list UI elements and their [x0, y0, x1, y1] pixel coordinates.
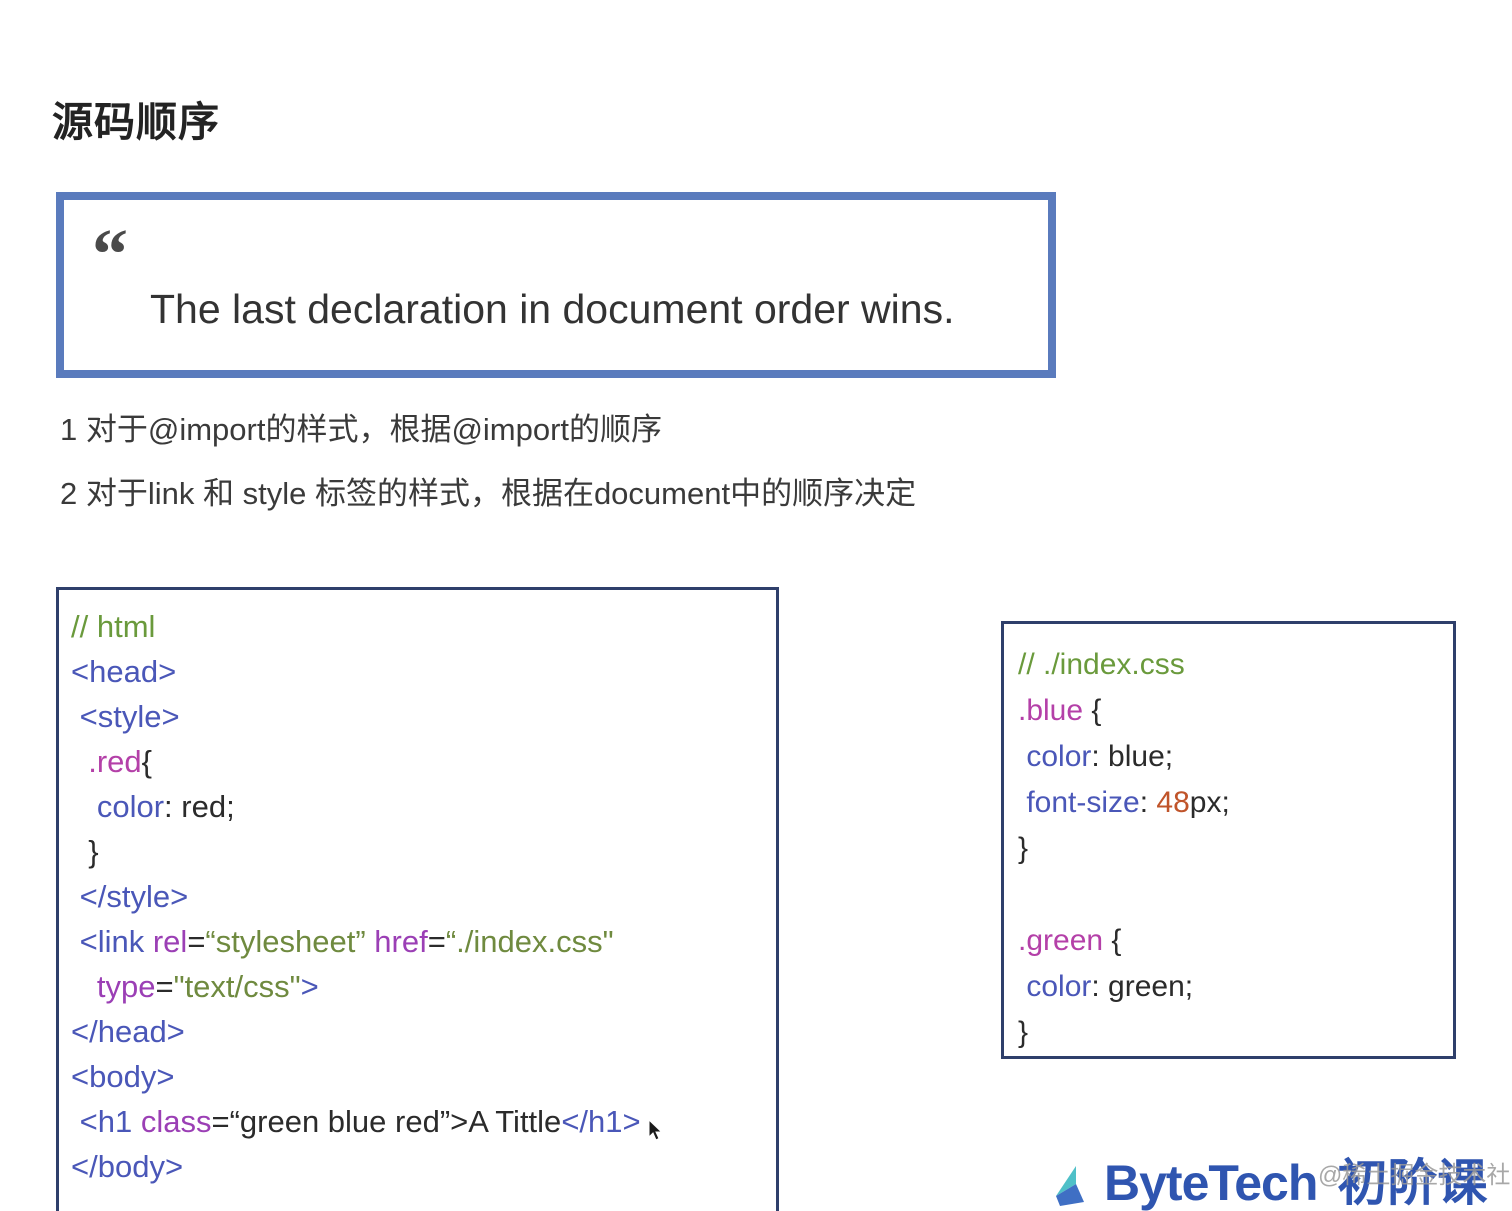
bullet-item-1: 1 对于@import的样式，根据@import的顺序 — [60, 414, 1260, 445]
code-line: </style> — [71, 874, 776, 919]
code-line — [1018, 872, 1453, 918]
code-token-str: "text/css" — [174, 969, 301, 1004]
code-line: .red{ — [71, 739, 776, 784]
code-token-str: “stylesheet” — [205, 924, 365, 959]
code-token-plain — [71, 699, 80, 734]
code-token-punct: { — [1083, 694, 1101, 727]
code-token-tag: <h1 — [80, 1104, 141, 1139]
code-line: color: blue; — [1018, 734, 1453, 780]
code-token-plain — [71, 1104, 80, 1139]
code-token-plain — [71, 834, 88, 869]
code-token-val: : blue; — [1091, 740, 1173, 773]
code-token-tag: > — [301, 969, 319, 1004]
code-token-plain: “green blue red”>A Tittle — [230, 1104, 562, 1139]
code-token-punct: = — [211, 1104, 229, 1139]
quote-text: The last declaration in document order w… — [150, 286, 954, 333]
code-line: </body> — [71, 1144, 776, 1189]
quote-callout-box: “ The last declaration in document order… — [56, 192, 1056, 378]
code-line: <head> — [71, 649, 776, 694]
code-token-punct: { — [142, 744, 152, 779]
code-token-punct: = — [155, 969, 173, 1004]
code-line: <body> — [71, 1054, 776, 1099]
bullet-item-2: 2 对于link 和 style 标签的样式，根据在document中的顺序决定 — [60, 478, 1260, 509]
code-token-tag: </style> — [80, 879, 189, 914]
code-line: <link rel=“stylesheet” href=“./index.css… — [71, 919, 776, 964]
page-title: 源码顺序 — [52, 88, 220, 148]
code-token-tag: <body> — [71, 1059, 174, 1094]
css-code-lines: // ./index.css.blue { color: blue; font-… — [1018, 642, 1453, 1056]
code-token-plain — [71, 744, 88, 779]
code-token-val: : — [1140, 786, 1157, 819]
bytetech-logo-text: ByteTech — [1104, 1160, 1317, 1208]
code-line: <h1 class=“green blue red”>A Tittle</h1> — [71, 1099, 776, 1144]
code-token-num: 48 — [1156, 786, 1189, 819]
code-line: // html — [71, 604, 776, 649]
code-token-val: px; — [1190, 786, 1230, 819]
code-token-plain — [71, 924, 80, 959]
code-line: font-size: 48px; — [1018, 780, 1453, 826]
code-token-punct: = — [428, 924, 446, 959]
code-token-comment: // ./index.css — [1018, 648, 1185, 681]
code-token-str: “./index.css" — [446, 924, 614, 959]
code-token-prop: font-size — [1026, 786, 1139, 819]
code-token-tag: </body> — [71, 1149, 183, 1184]
code-token-val: : red; — [164, 789, 235, 824]
code-token-tag: <style> — [80, 699, 180, 734]
bullet-list: 1 对于@import的样式，根据@import的顺序 2 对于link 和 s… — [60, 414, 1260, 542]
code-token-tag: </head> — [71, 1014, 185, 1049]
code-line: } — [1018, 1010, 1453, 1056]
code-token-sel: .green — [1018, 924, 1103, 957]
code-token-val: : green; — [1091, 970, 1193, 1003]
code-line: color: red; — [71, 784, 776, 829]
code-token-tag: </h1> — [561, 1104, 640, 1139]
code-line: color: green; — [1018, 964, 1453, 1010]
code-line: </head> — [71, 1009, 776, 1054]
code-token-punct: } — [88, 834, 98, 869]
code-token-attr: rel — [153, 924, 187, 959]
code-line: .blue { — [1018, 688, 1453, 734]
code-token-tag: <head> — [71, 654, 176, 689]
watermark-text: @稀土掘金技术社区 — [1318, 1155, 1512, 1190]
html-code-lines: // html<head> <style> .red{ color: red; … — [71, 604, 776, 1189]
code-token-punct: } — [1018, 1016, 1028, 1049]
code-token-plain — [71, 969, 97, 1004]
html-code-panel: // html<head> <style> .red{ color: red; … — [56, 587, 779, 1211]
code-token-prop: color — [97, 789, 164, 824]
code-token-plain — [71, 879, 80, 914]
code-token-prop: color — [1026, 970, 1091, 1003]
bytetech-logo-mark — [1046, 1162, 1092, 1208]
quote-mark-icon: “ — [92, 218, 128, 290]
code-token-tag: <link — [80, 924, 153, 959]
code-token-punct: { — [1103, 924, 1121, 957]
code-token-attr: href — [374, 924, 427, 959]
code-line: } — [71, 829, 776, 874]
code-token-plain — [366, 924, 375, 959]
code-token-attr: type — [97, 969, 156, 1004]
code-token-attr: class — [141, 1104, 212, 1139]
code-token-sel: .blue — [1018, 694, 1083, 727]
code-token-prop: color — [1026, 740, 1091, 773]
code-token-comment: // html — [71, 609, 155, 644]
code-line: .green { — [1018, 918, 1453, 964]
code-token-punct: } — [1018, 832, 1028, 865]
code-line: } — [1018, 826, 1453, 872]
code-token-sel: .red — [88, 744, 141, 779]
code-line: type="text/css"> — [71, 964, 776, 1009]
code-token-plain — [71, 789, 97, 824]
code-line: <style> — [71, 694, 776, 739]
code-token-punct: = — [187, 924, 205, 959]
mouse-pointer-icon — [648, 1119, 664, 1143]
code-line: // ./index.css — [1018, 642, 1453, 688]
css-code-panel: // ./index.css.blue { color: blue; font-… — [1001, 621, 1456, 1059]
